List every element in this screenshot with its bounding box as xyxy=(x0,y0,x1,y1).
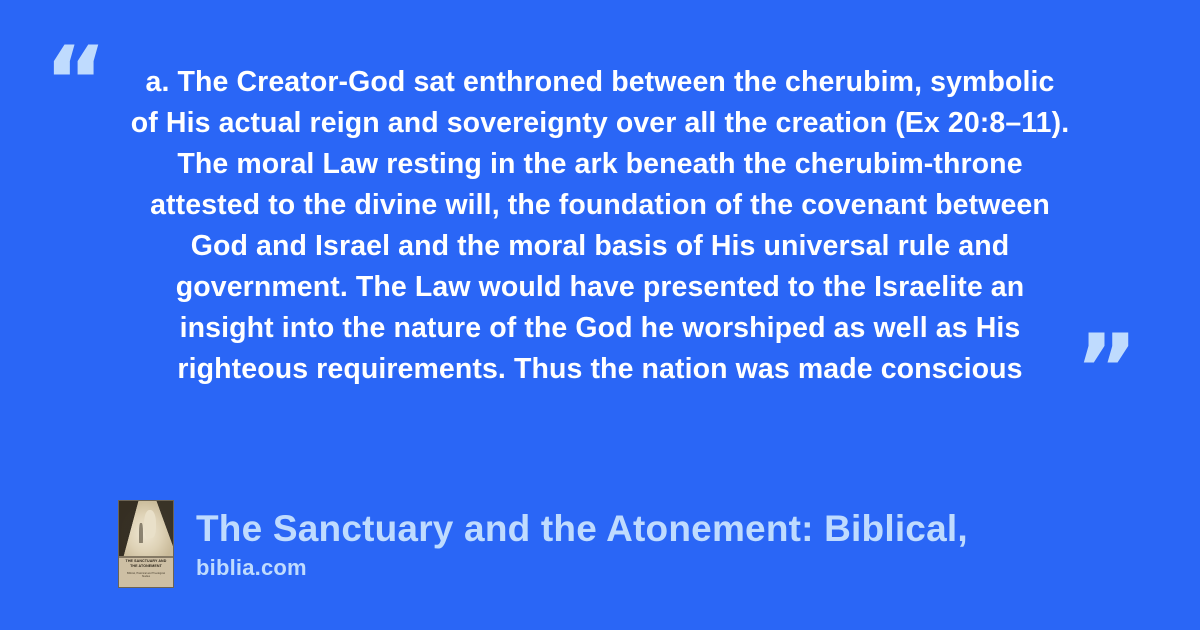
source-text-group: The Sanctuary and the Atonement: Biblica… xyxy=(196,508,968,581)
close-quote-icon: ” xyxy=(1075,322,1138,418)
open-quote-icon: “ xyxy=(44,34,107,130)
source-domain[interactable]: biblia.com xyxy=(196,556,968,580)
book-cover-figure xyxy=(144,510,156,539)
document-title[interactable]: The Sanctuary and the Atonement: Biblica… xyxy=(196,508,968,549)
book-cover-divider xyxy=(119,556,173,558)
book-cover-subtitle: Biblical, Historical and Theological Stu… xyxy=(123,572,169,579)
quote-share-card: “ a. The Creator-God sat enthroned betwe… xyxy=(0,0,1200,630)
source-attribution[interactable]: THE SANCTUARY AND THE ATONEMENT Biblical… xyxy=(118,500,968,588)
quote-block: “ a. The Creator-God sat enthroned betwe… xyxy=(0,0,1200,440)
book-cover-artwork xyxy=(119,501,173,556)
book-cover-title: THE SANCTUARY AND THE ATONEMENT xyxy=(123,559,169,569)
quote-text: a. The Creator-God sat enthroned between… xyxy=(130,62,1070,390)
book-cover-thumbnail: THE SANCTUARY AND THE ATONEMENT Biblical… xyxy=(118,500,174,588)
